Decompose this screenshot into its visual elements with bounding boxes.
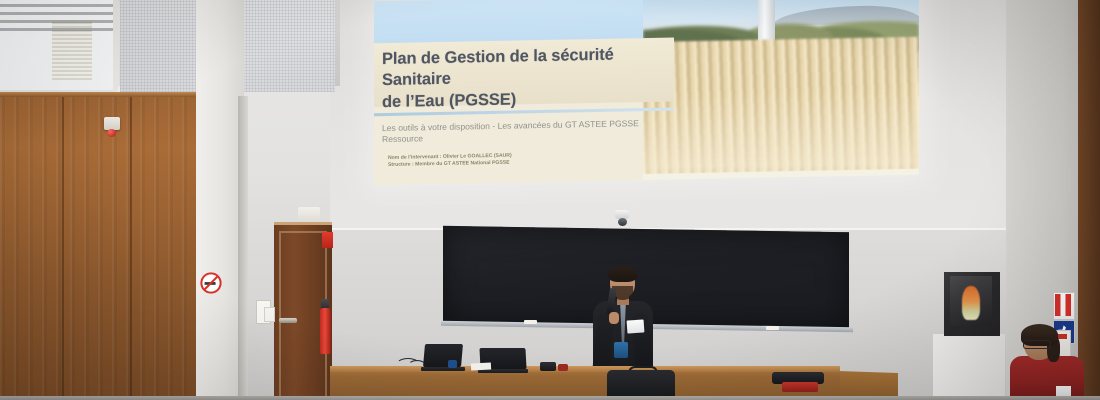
fire-safety-sign-graphic	[1055, 294, 1071, 316]
slide-title-line-1: Plan de Gestion de la sécurité Sanitaire	[382, 43, 682, 92]
attendee-shirt	[1010, 356, 1084, 400]
floor-edge	[0, 396, 1100, 400]
chalk-piece[interactable]	[524, 320, 537, 324]
laptop-open[interactable]	[424, 344, 465, 371]
no-smoking-icon	[200, 272, 222, 294]
fire-extinguisher[interactable]	[320, 308, 331, 354]
door-notice-plate	[298, 207, 320, 223]
door-handle[interactable]	[279, 318, 297, 323]
projected-slide: Plan de Gestion de la sécurité Sanitaire…	[374, 0, 919, 185]
amber-sculpture	[962, 286, 980, 320]
papers-on-desk	[471, 362, 491, 370]
fire-alarm-led-icon	[107, 129, 116, 137]
seated-attendee	[1010, 328, 1084, 400]
wood-panel-trim	[0, 92, 196, 97]
slide-title: Plan de Gestion de la sécurité Sanitaire…	[382, 43, 682, 113]
power-adapter	[540, 362, 556, 371]
presenter-name-badge	[627, 319, 645, 333]
photo-water-tower	[758, 0, 775, 44]
fire-equipment-sign	[322, 232, 333, 248]
red-equipment	[782, 382, 818, 392]
chalk-piece[interactable]	[766, 326, 779, 330]
red-cable	[558, 364, 568, 371]
wood-wall-paneling	[0, 92, 196, 400]
glasses-icon	[1023, 340, 1051, 349]
window	[0, 0, 118, 96]
light-switch[interactable]	[264, 307, 275, 322]
presenter-hand	[609, 312, 619, 324]
adapter	[448, 360, 457, 368]
window-frame	[0, 0, 118, 96]
display-pedestal	[933, 334, 1005, 400]
presenter-lanyard-card	[614, 342, 628, 358]
pillar-recess	[238, 96, 248, 396]
lecture-hall-scene: Plan de Gestion de la sécurité Sanitaire…	[0, 0, 1100, 400]
wall-pillar	[196, 0, 244, 400]
cable-coil	[408, 360, 426, 371]
wall-camera-icon	[615, 210, 629, 227]
slide-photo	[643, 0, 919, 174]
presenter-hair	[608, 266, 637, 282]
